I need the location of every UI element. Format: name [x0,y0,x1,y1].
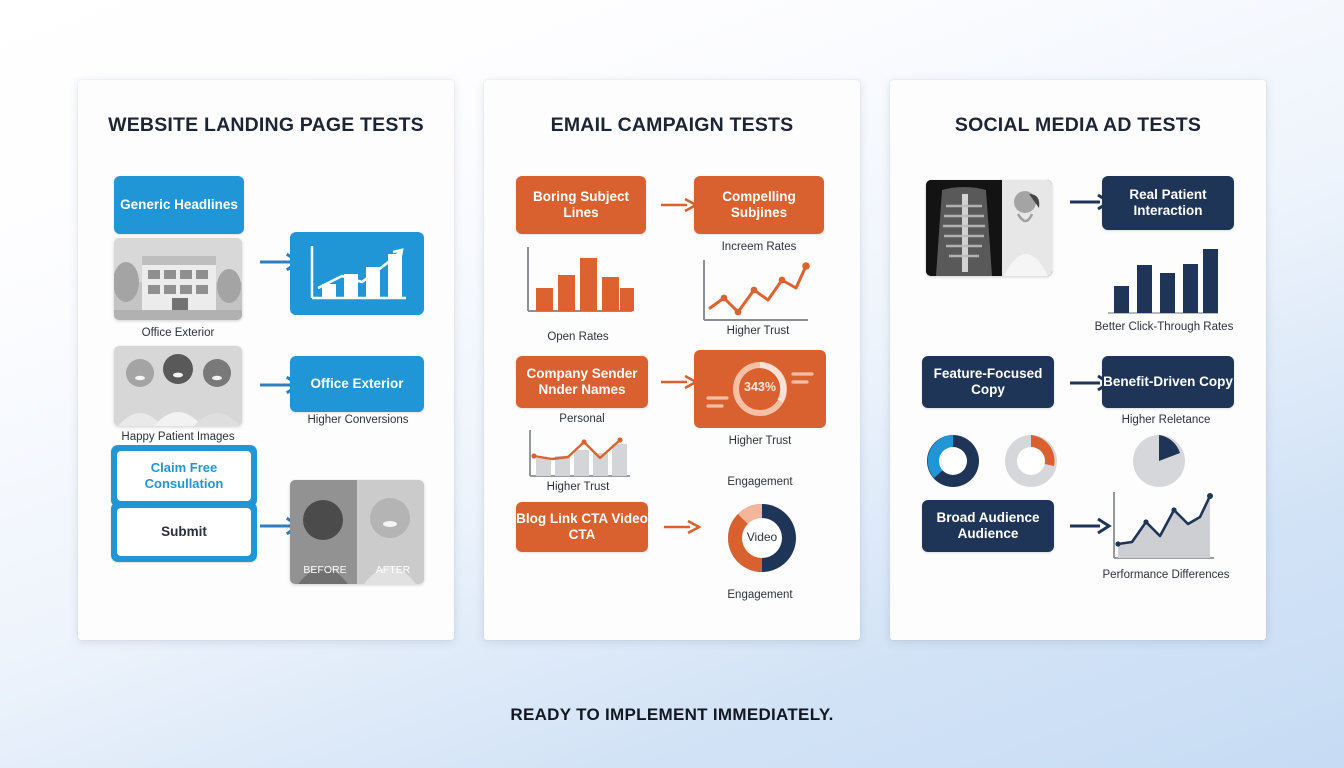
happy-patient-images-photo [114,346,242,426]
broad-audience-button[interactable]: Broad Audience Audience [922,500,1054,552]
engagement-caption-top: Engagement [690,475,830,490]
footer-text: READY TO IMPLEMENT IMMEDIATELY. [0,705,1344,725]
higher-conversions-caption: Higher Conversions [280,413,436,428]
office-exterior-result-button[interactable]: Office Exterior [290,356,424,412]
card-website-landing-page-tests[interactable]: WEBSITE LANDING PAGE TESTS Generic Headl… [78,80,454,640]
card-row: WEBSITE LANDING PAGE TESTS Generic Headl… [78,80,1268,640]
card-social-media-ad-tests[interactable]: SOCIAL MEDIA AD TESTS [890,80,1266,640]
submit-label: Submit [117,508,251,556]
donut-percent-label: 343% [694,380,826,394]
office-exterior-caption: Office Exterior [104,326,252,341]
engagement-caption-bottom: Engagement [690,588,830,603]
after-label: AFTER [362,564,424,577]
ctr-bar-chart [1104,245,1220,321]
higher-trust-caption-3: Higher Trust [690,434,830,449]
donut-blue-chart [922,430,984,492]
page-title-column-2: EMAIL CAMPAIGN TESTS [484,114,860,137]
benefit-driven-copy-button[interactable]: Benefit-Driven Copy [1102,356,1234,408]
blog-link-cta-button[interactable]: Blog Link CTA Video CTA [516,502,648,552]
open-rates-bar-chart [520,245,636,325]
feature-focused-copy-button[interactable]: Feature-Focused Copy [922,356,1054,408]
before-label: BEFORE [294,564,356,577]
increem-rates-line-chart [696,258,812,330]
card-email-campaign-tests[interactable]: EMAIL CAMPAIGN TESTS Boring Subject Line… [484,80,860,640]
company-sender-names-button[interactable]: Company Sender Nnder Names [516,356,648,408]
better-ctr-caption: Better Click-Through Rates [1076,320,1252,335]
xray-patient-photo [926,180,1052,276]
higher-trust-caption-2: Higher Trust [510,480,646,495]
claim-free-consultation-label: Claim Free Consullation [117,451,251,501]
arrow-right-icon-5 [659,373,699,391]
increem-rates-caption: Increem Rates [694,240,824,255]
higher-reletance-caption: Higher Reletance [1096,413,1236,428]
growth-chart-tile [290,232,424,315]
higher-trust-caption-1: Higher Trust [690,324,826,339]
claim-free-consultation-button[interactable]: Claim Free Consullation [111,445,257,507]
office-exterior-photo [114,238,242,320]
generic-headlines-button[interactable]: Generic Headlines [114,176,244,234]
open-rates-caption: Open Rates [510,330,646,345]
compelling-subjines-button[interactable]: Compelling Subjines [694,176,824,234]
video-label: Video [716,530,808,544]
personal-combo-chart [522,428,634,486]
personal-caption: Personal [514,412,650,427]
performance-differences-caption: Performance Differences [1096,568,1236,583]
performance-area-chart [1106,488,1218,572]
pie-relevance-chart [1128,430,1190,492]
page-title-column-1: WEBSITE LANDING PAGE TESTS [78,114,454,137]
submit-button[interactable]: Submit [111,502,257,562]
donut-orange-chart [1000,430,1062,492]
infographic-canvas: WEBSITE LANDING PAGE TESTS Generic Headl… [0,0,1344,768]
page-title-column-3: SOCIAL MEDIA AD TESTS [890,114,1266,137]
real-patient-interaction-button[interactable]: Real Patient Interaction [1102,176,1234,230]
arrow-right-icon-6 [662,518,702,536]
boring-subject-lines-button[interactable]: Boring Subject Lines [516,176,646,234]
happy-patient-images-caption: Happy Patient Images [102,430,254,445]
arrow-right-icon-4 [659,196,699,214]
